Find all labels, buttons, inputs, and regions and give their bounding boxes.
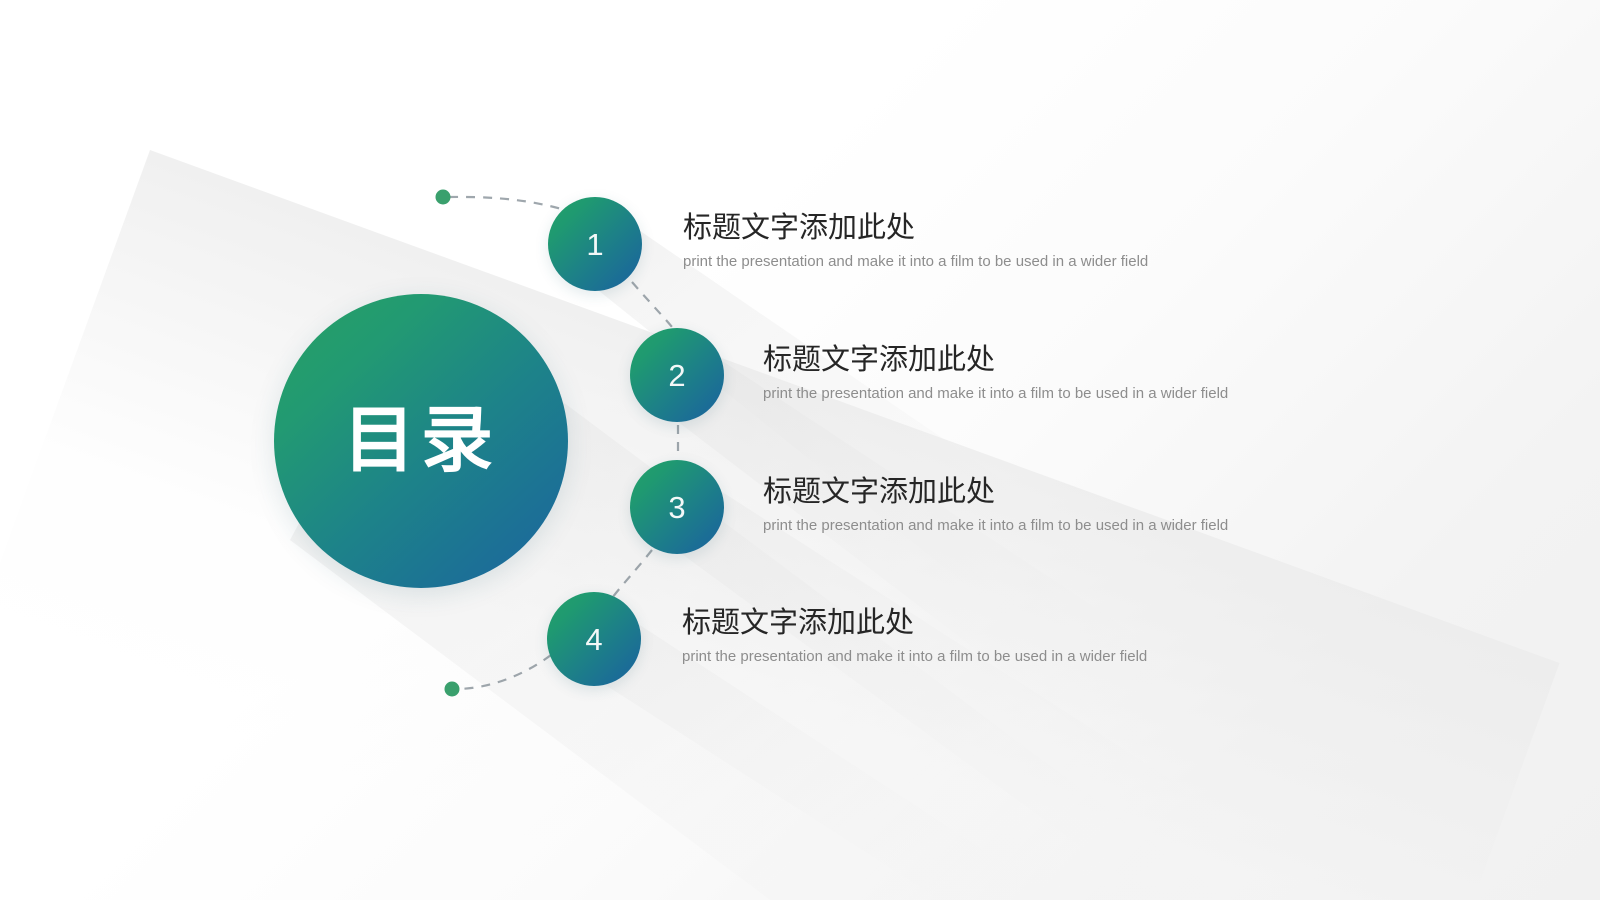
step-title-1: 标题文字添加此处	[683, 211, 1148, 246]
step-number-2: 2	[668, 360, 685, 391]
step-number-3: 3	[668, 492, 685, 523]
step-desc-4: print the presentation and make it into …	[682, 648, 1147, 666]
step-text-block-3: 标题文字添加此处 print the presentation and make…	[763, 475, 1228, 535]
connector-vector-layer	[0, 0, 1600, 900]
step-text-block-1: 标题文字添加此处 print the presentation and make…	[683, 211, 1148, 271]
step-number-4: 4	[585, 624, 602, 655]
step-text-block-4: 标题文字添加此处 print the presentation and make…	[682, 606, 1147, 666]
step-circle-3[interactable]: 3	[630, 460, 724, 554]
step-title-2: 标题文字添加此处	[763, 343, 1228, 378]
endpoint-dot-top	[436, 190, 451, 205]
main-circle-label: 目录	[343, 405, 499, 477]
step-desc-3: print the presentation and make it into …	[763, 517, 1228, 535]
main-contents-circle[interactable]: 目录	[274, 294, 568, 588]
step-circle-4[interactable]: 4	[547, 592, 641, 686]
step-circle-2[interactable]: 2	[630, 328, 724, 422]
step-text-block-2: 标题文字添加此处 print the presentation and make…	[763, 343, 1228, 403]
step-desc-1: print the presentation and make it into …	[683, 253, 1148, 271]
step-circle-1[interactable]: 1	[548, 197, 642, 291]
step-desc-2: print the presentation and make it into …	[763, 385, 1228, 403]
step-title-3: 标题文字添加此处	[763, 475, 1228, 510]
endpoint-dot-bottom	[445, 682, 460, 697]
step-title-4: 标题文字添加此处	[682, 606, 1147, 641]
slide-canvas: 目录 1 2 3 4 标题文字添加此处 print the presentati…	[0, 0, 1600, 900]
step-number-1: 1	[586, 229, 603, 260]
